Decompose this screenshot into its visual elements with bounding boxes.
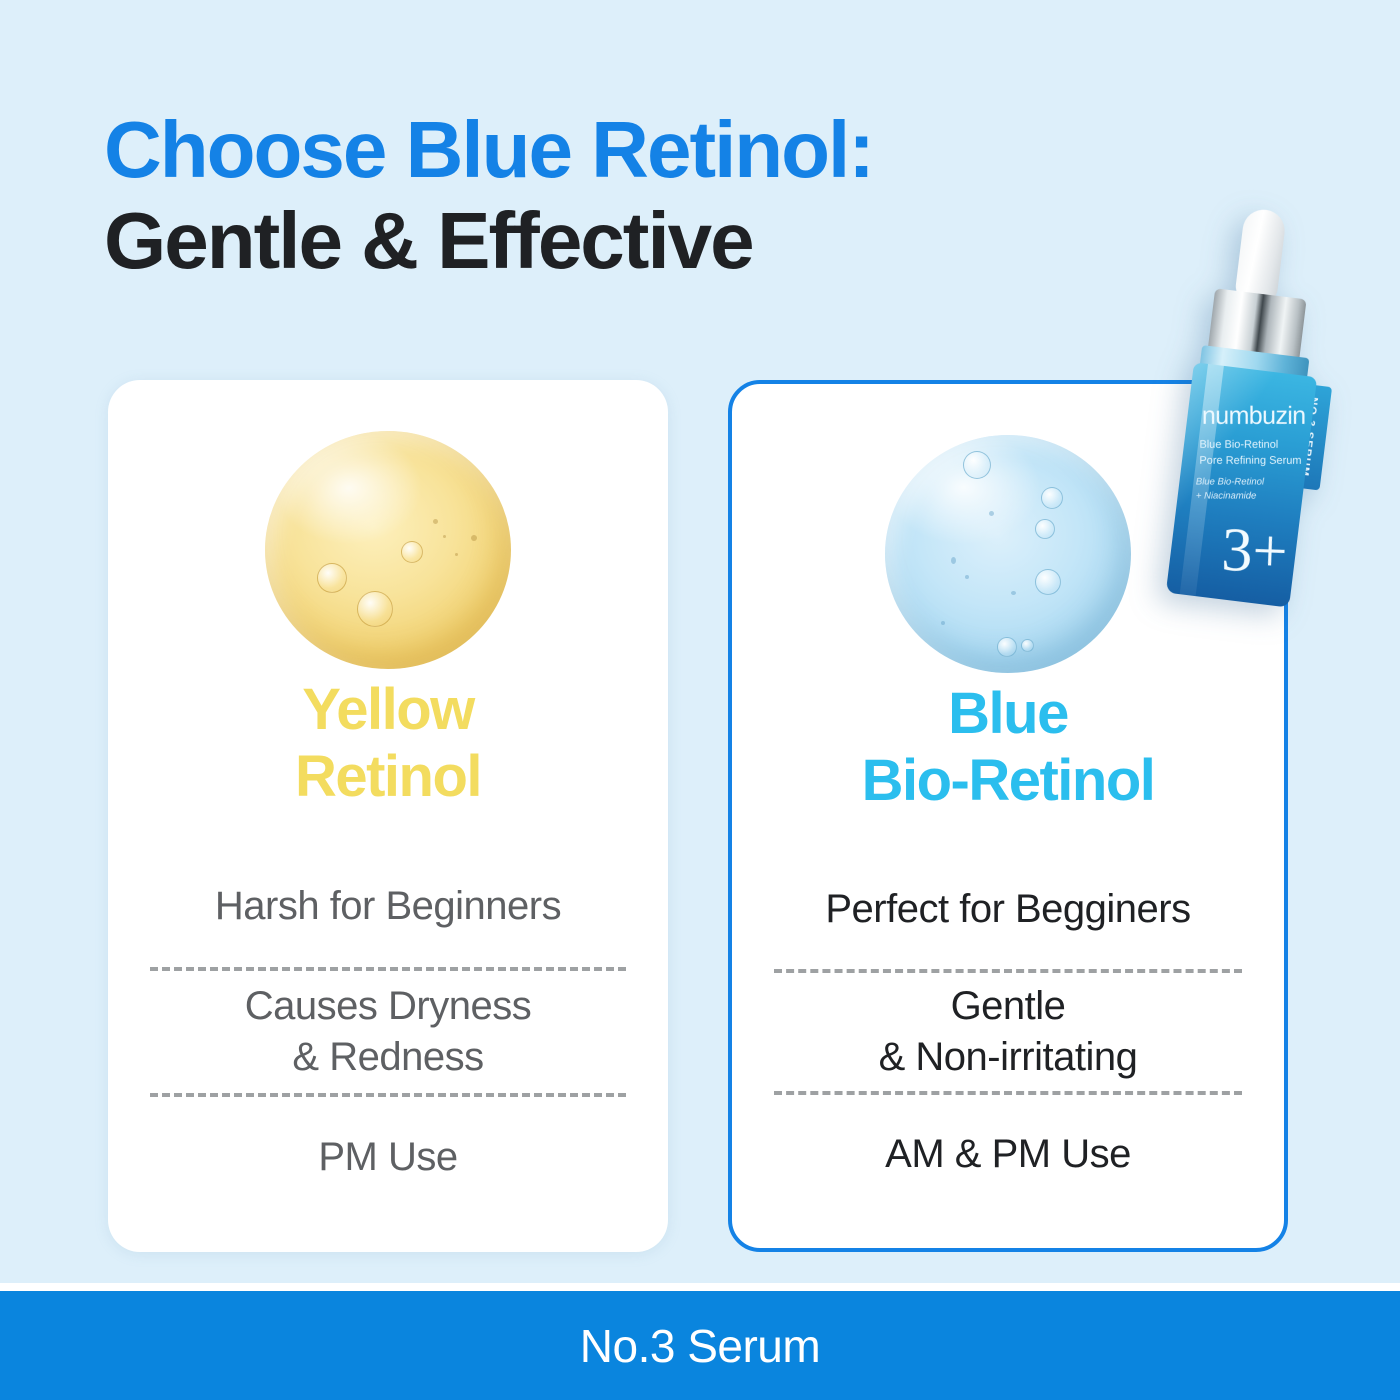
card-title-yellow: Yellow Retinol [108,676,668,811]
feature-text: & Non-irritating [879,1035,1138,1079]
bubble [1041,487,1063,509]
feature-list-blue: Perfect for Begginers Gentle & Non-irrit… [770,850,1246,1214]
feature-divider [774,1091,1242,1095]
bubble [401,541,423,563]
feature-divider [774,969,1242,973]
speck [1011,591,1016,595]
footer-divider [0,1283,1400,1291]
bubble [1021,639,1034,652]
bubble [1035,569,1061,595]
ingredient-line-2: + Niacinamide [1196,490,1256,501]
feature-item: Harsh for Beginners [146,846,630,967]
card-title-blue: Blue Bio-Retinol [732,680,1284,815]
comparison-card-yellow-retinol[interactable]: Yellow Retinol Harsh for Beginners Cause… [108,380,668,1252]
product-label-primary: Blue Bio-Retinol Pore Refining Serum [1199,438,1301,469]
ingredient-line-1: Blue Bio-Retinol [1196,477,1264,488]
blue-gel-droplet-icon [885,435,1131,673]
yellow-droplet-container [108,424,668,676]
speck [941,621,945,625]
bubble [997,637,1017,657]
card-title-line-2: Bio-Retinol [732,747,1284,814]
headline-line-2: Gentle & Effective [104,195,1244,286]
bubble [963,451,991,479]
speck [965,575,969,579]
feature-text: PM Use [318,1132,457,1183]
label-line-1: Blue Bio-Retinol [1199,439,1278,451]
card-title-line-1: Yellow [108,676,668,743]
product-numeral: 3+ [1221,525,1289,578]
feature-divider [150,1093,626,1097]
speck [951,557,956,564]
feature-list-yellow: Harsh for Beginners Causes Dryness & Red… [146,846,630,1218]
bottle-body: numbuzin Blue Bio-Retinol Pore Refining … [1166,362,1317,607]
feature-divider [150,967,626,971]
headline-line-1: Choose Blue Retinol: [104,104,1244,195]
label-line-2: Pore Refining Serum [1199,454,1301,466]
feature-text: Perfect for Begginers [825,884,1190,935]
speck [443,535,446,538]
bubble [1035,519,1055,539]
feature-text: Gentle [951,984,1066,1028]
feature-text: Causes Dryness [245,984,531,1028]
card-title-line-1: Blue [732,680,1284,747]
speck [455,553,458,556]
dropper-bulb-icon [1234,207,1287,303]
feature-item: Gentle & Non-irritating [770,973,1246,1092]
speck [989,511,994,516]
speck [433,519,438,524]
bubble [317,563,347,593]
brand-name: numbuzin [1202,402,1306,431]
bubble [357,591,393,627]
footer-bar: No.3 Serum [0,1291,1400,1400]
feature-item: Causes Dryness & Redness [146,971,630,1092]
product-label-ingredients: Blue Bio-Retinol + Niacinamide [1196,476,1264,504]
feature-item: AM & PM Use [770,1095,1246,1214]
feature-item: Perfect for Begginers [770,850,1246,969]
feature-text: Harsh for Beginners [215,881,561,932]
feature-text: AM & PM Use [885,1129,1131,1180]
footer-label: No.3 Serum [580,1319,820,1373]
speck [471,535,477,541]
page-title: Choose Blue Retinol: Gentle & Effective [104,104,1244,286]
card-title-line-2: Retinol [108,743,668,810]
yellow-serum-droplet-icon [265,431,511,669]
feature-item: PM Use [146,1097,630,1218]
infographic-canvas: Choose Blue Retinol: Gentle & Effective … [0,0,1400,1400]
feature-text: & Redness [292,1035,483,1079]
